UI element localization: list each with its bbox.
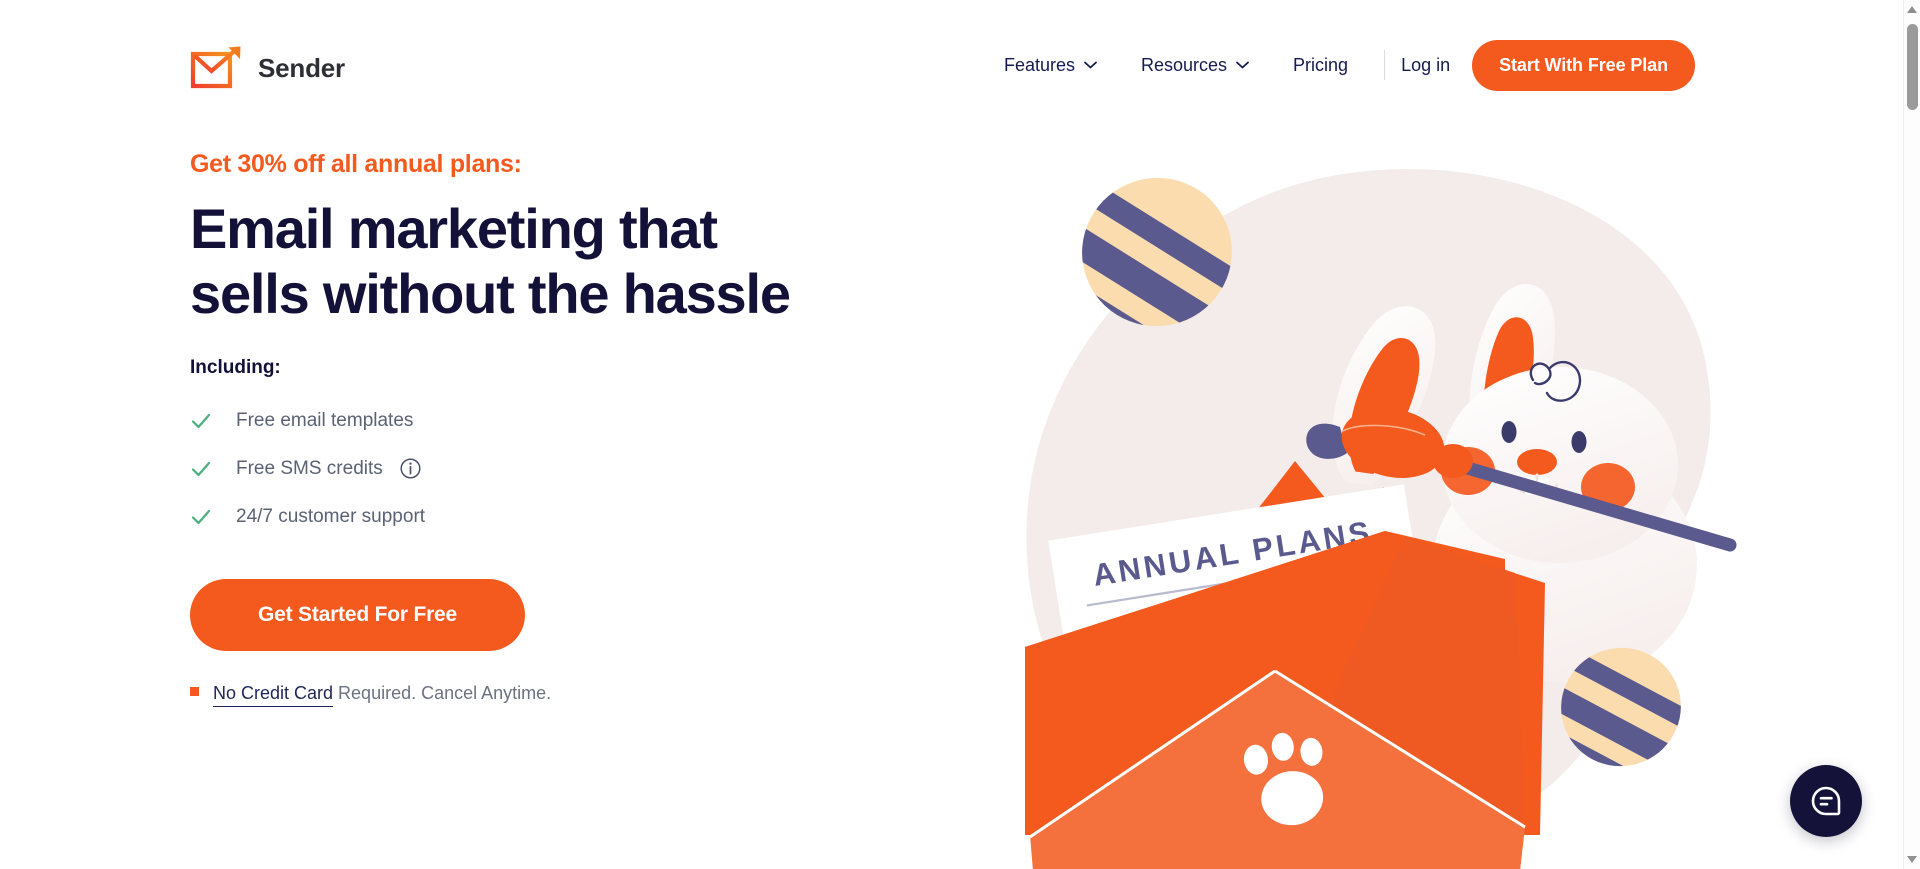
brand-name: Sender <box>258 53 345 84</box>
feature-label: 24/7 customer support <box>236 506 425 528</box>
scrollbar-thumb[interactable] <box>1907 24 1918 110</box>
start-free-plan-button[interactable]: Start With Free Plan <box>1472 40 1695 91</box>
square-bullet-icon <box>190 687 199 696</box>
check-icon <box>190 410 212 432</box>
page-title: Email marketing that sells without the h… <box>190 197 950 327</box>
brand-logo-link[interactable]: Sender <box>190 45 345 91</box>
chevron-down-icon <box>1236 61 1249 69</box>
nav-item-resources[interactable]: Resources <box>1119 55 1271 76</box>
info-circle-icon[interactable] <box>400 458 421 479</box>
nav-item-pricing[interactable]: Pricing <box>1271 55 1370 76</box>
feature-label: Free SMS credits <box>236 458 383 480</box>
chat-widget-button[interactable] <box>1790 765 1862 837</box>
disclaimer: No Credit Card Required. Cancel Anytime. <box>190 683 950 707</box>
promo-eyebrow: Get 30% off all annual plans: <box>190 150 950 179</box>
nav-item-resources-label: Resources <box>1141 55 1227 76</box>
list-item: Free SMS credits <box>190 445 950 493</box>
get-started-for-free-button[interactable]: Get Started For Free <box>190 579 525 651</box>
list-item: 24/7 customer support <box>190 493 950 541</box>
nav-item-pricing-label: Pricing <box>1293 55 1348 76</box>
headline-line-1: Email marketing that <box>190 197 717 260</box>
illustration-svg: ANNUAL PLANS 30% OFF <box>985 135 1755 869</box>
no-credit-card-link[interactable]: No Credit Card <box>213 683 333 707</box>
bunny-nose <box>1517 449 1557 475</box>
check-icon <box>190 458 212 480</box>
main-nav: Features Resources Pricing Log in Start … <box>982 44 1695 86</box>
check-icon <box>190 506 212 528</box>
easter-bunny-envelope-illustration: ANNUAL PLANS 30% OFF <box>985 135 1755 869</box>
nav-item-features[interactable]: Features <box>982 55 1119 76</box>
chevron-down-icon <box>1084 61 1097 69</box>
bunny-eye-right <box>1572 431 1587 453</box>
chat-bubble-icon <box>1808 783 1844 819</box>
feature-label: Free email templates <box>236 410 413 432</box>
list-item: Free email templates <box>190 397 950 445</box>
hero-content: Get 30% off all annual plans: Email mark… <box>190 150 950 707</box>
disclaimer-rest: Required. Cancel Anytime. <box>338 683 551 704</box>
scroll-down-arrow-icon[interactable] <box>1907 856 1917 863</box>
landing-page: Sender Features Resources Pricing Log in <box>0 0 1920 869</box>
login-link[interactable]: Log in <box>1401 55 1472 76</box>
envelope-arrow-logo <box>190 45 244 91</box>
including-label: Including: <box>190 357 950 379</box>
nav-divider <box>1384 50 1385 80</box>
nav-item-features-label: Features <box>1004 55 1075 76</box>
site-header: Sender Features Resources Pricing Log in <box>0 0 1903 112</box>
scroll-up-arrow-icon[interactable] <box>1907 6 1917 13</box>
page-scrollbar[interactable] <box>1903 0 1920 869</box>
bunny-eye-left <box>1502 421 1517 443</box>
headline-line-2: sells without the hassle <box>190 262 790 325</box>
feature-list: Free email templates Free SMS credits 24… <box>190 397 950 541</box>
